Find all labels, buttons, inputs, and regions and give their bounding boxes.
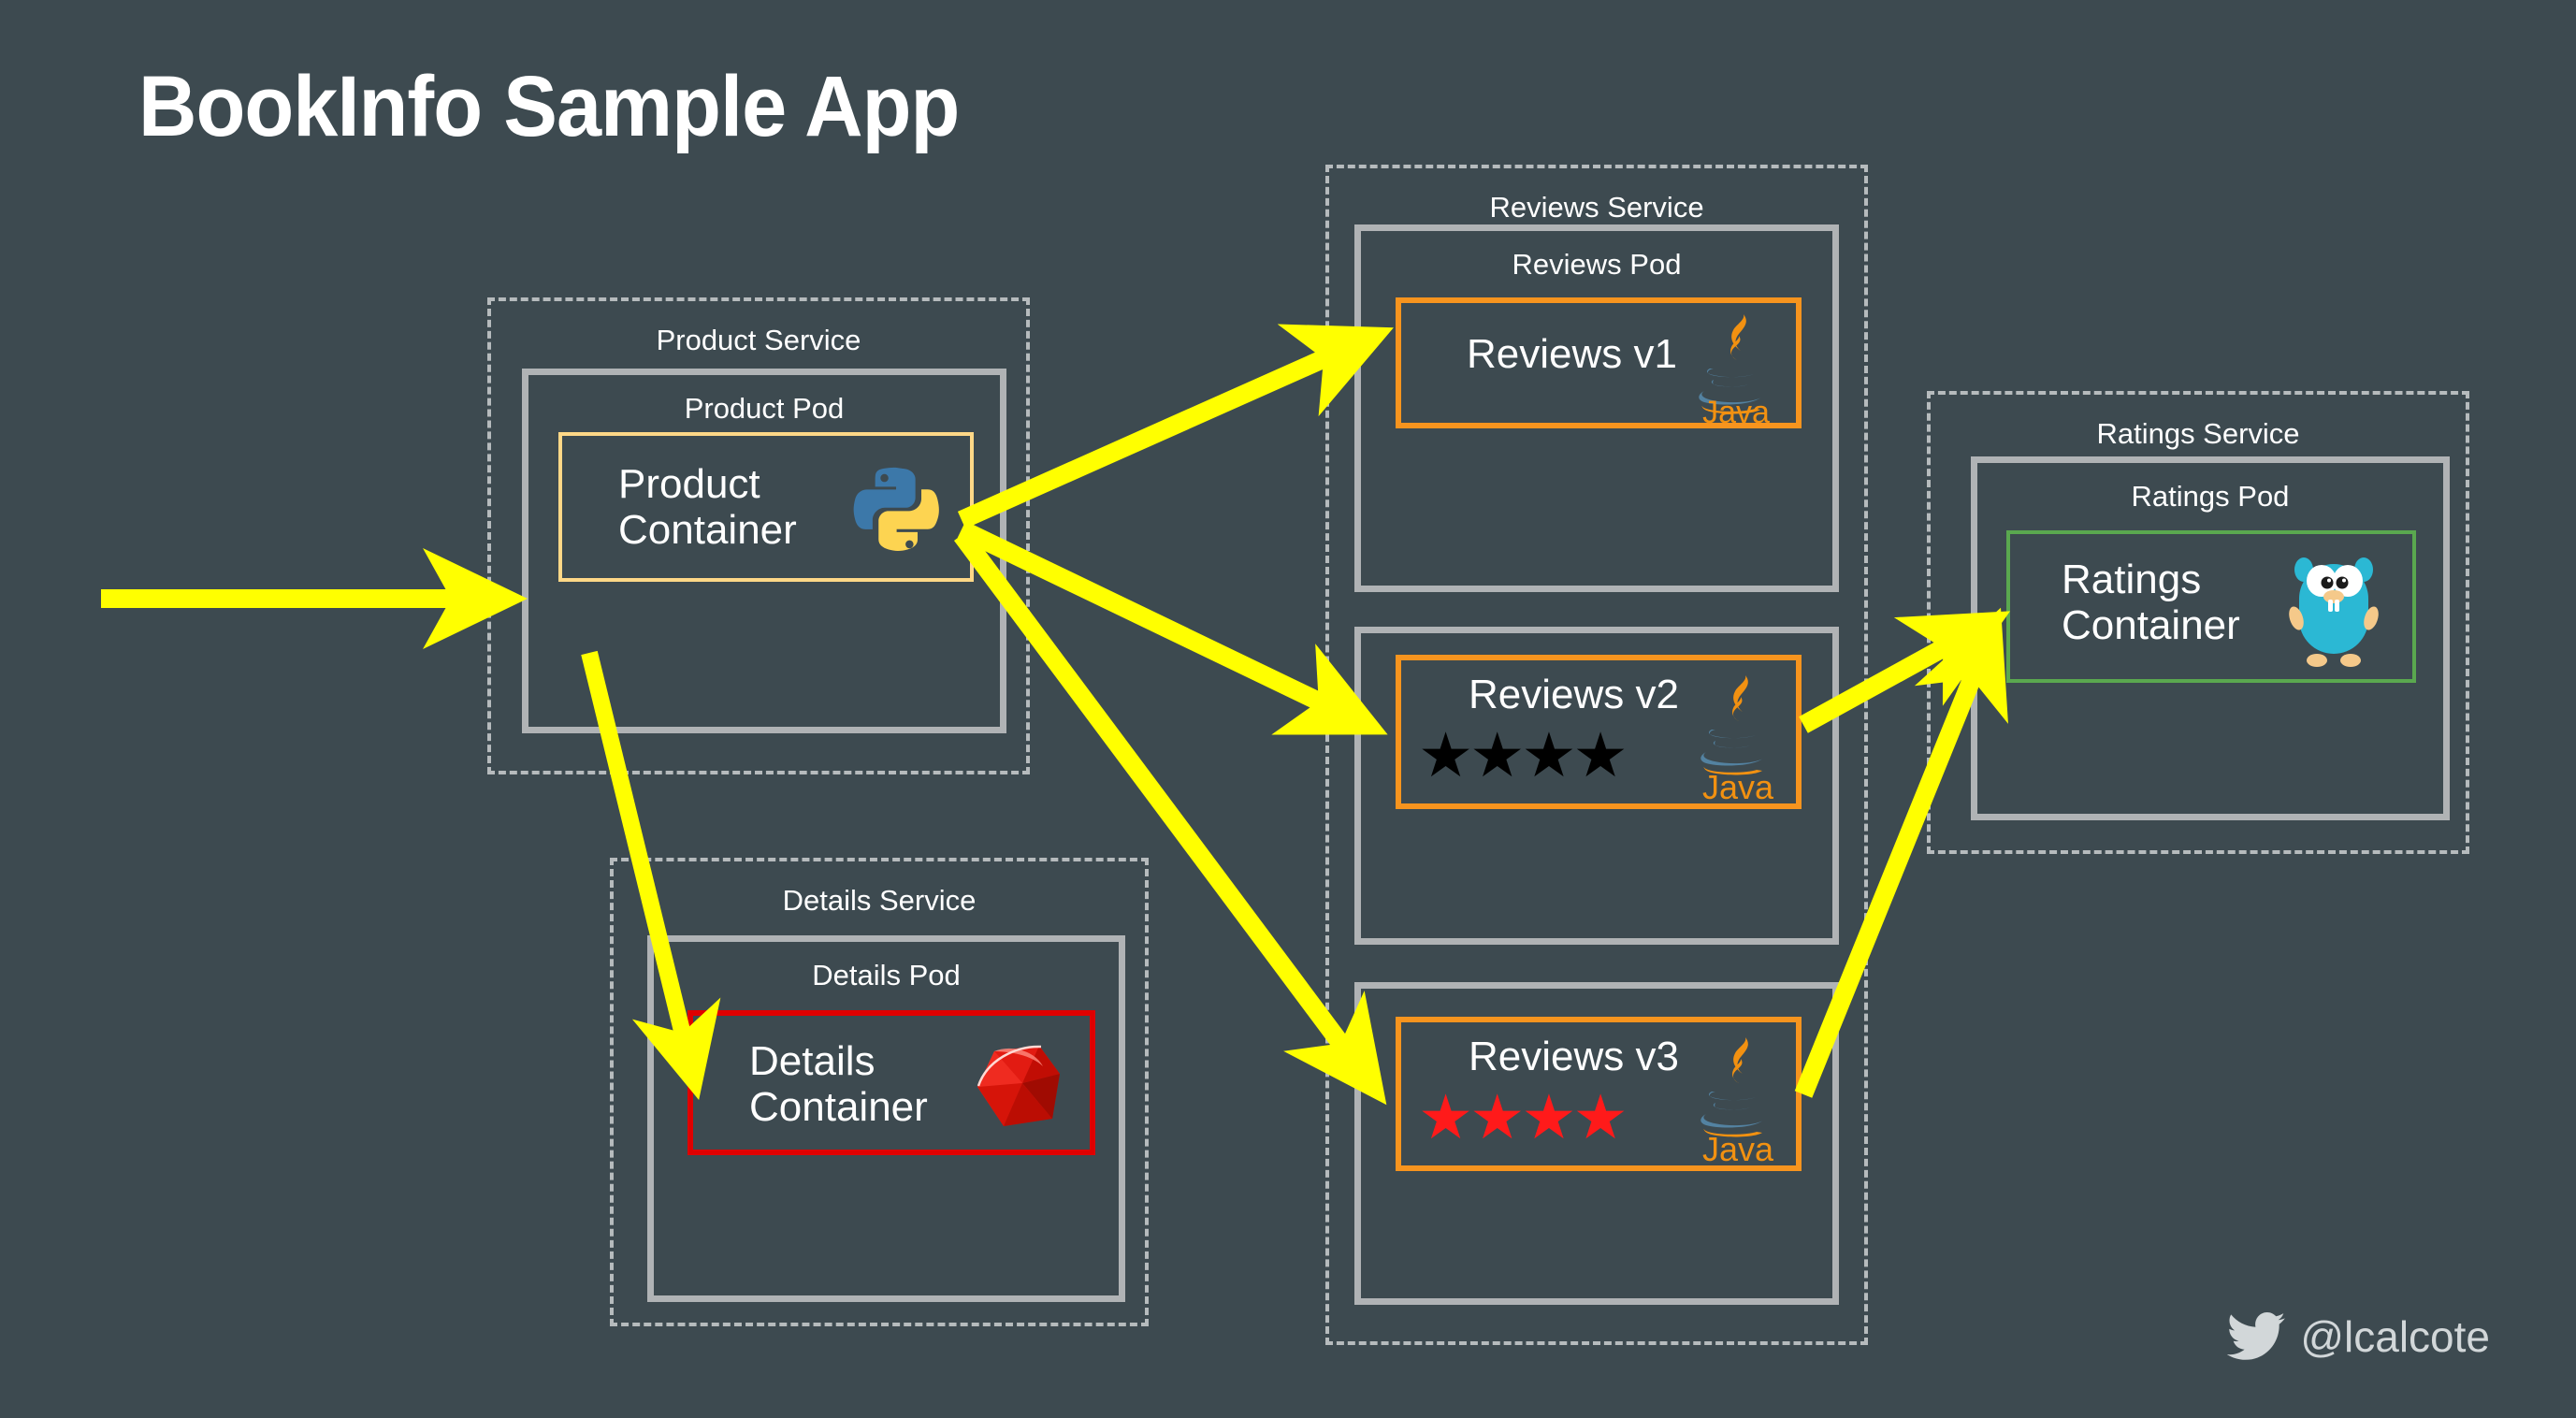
java-logo: Java bbox=[1693, 672, 1783, 803]
container-label-details: Details Container bbox=[749, 1038, 928, 1131]
star-rating-reviews-v3: ★★★★ bbox=[1418, 1086, 1625, 1148]
twitter-bird-icon bbox=[2227, 1312, 2285, 1361]
page-title: BookInfo Sample App bbox=[138, 58, 959, 156]
container-box-details: Details Container bbox=[687, 1010, 1095, 1155]
python-logo bbox=[847, 462, 948, 563]
container-label-reviews-v2: Reviews v2 bbox=[1469, 672, 1679, 717]
svg-text:Java: Java bbox=[1702, 395, 1770, 425]
container-label-ratings: Ratings Container bbox=[2062, 557, 2240, 649]
container-box-product: Product Container bbox=[558, 432, 974, 582]
container-label-reviews-v3: Reviews v3 bbox=[1469, 1034, 1679, 1079]
container-box-reviews-v1: Reviews v1 Java bbox=[1396, 297, 1802, 428]
container-box-ratings: Ratings Container bbox=[2006, 530, 2416, 683]
pod-label-reviews-v1: Reviews Pod bbox=[1361, 248, 1832, 282]
java-logo: Java bbox=[1691, 311, 1781, 425]
ruby-logo bbox=[966, 1033, 1069, 1136]
service-label-reviews: Reviews Service bbox=[1329, 191, 1864, 224]
java-logo: Java bbox=[1693, 1034, 1783, 1165]
container-box-reviews-v3: Reviews v3 ★★★★ Java bbox=[1396, 1017, 1802, 1171]
svg-text:Java: Java bbox=[1702, 1130, 1774, 1165]
service-label-details: Details Service bbox=[614, 884, 1145, 918]
star-rating-reviews-v2: ★★★★ bbox=[1418, 724, 1625, 786]
go-gopher-logo bbox=[2286, 545, 2381, 674]
service-label-ratings: Ratings Service bbox=[1931, 417, 2466, 451]
pod-label-ratings: Ratings Pod bbox=[1977, 480, 2443, 514]
container-box-reviews-v2: Reviews v2 ★★★★ Java bbox=[1396, 655, 1802, 809]
twitter-credit: @lcalcote bbox=[2227, 1311, 2490, 1362]
svg-text:Java: Java bbox=[1702, 768, 1774, 803]
pod-label-product: Product Pod bbox=[528, 392, 1000, 426]
twitter-handle-label: @lcalcote bbox=[2300, 1311, 2490, 1362]
container-label-product: Product Container bbox=[618, 461, 797, 554]
pod-label-details: Details Pod bbox=[654, 959, 1119, 992]
container-label-reviews-v1: Reviews v1 bbox=[1467, 331, 1677, 377]
service-label-product: Product Service bbox=[491, 324, 1026, 357]
diagram-canvas: BookInfo Sample App Product Service Prod… bbox=[0, 0, 2576, 1418]
